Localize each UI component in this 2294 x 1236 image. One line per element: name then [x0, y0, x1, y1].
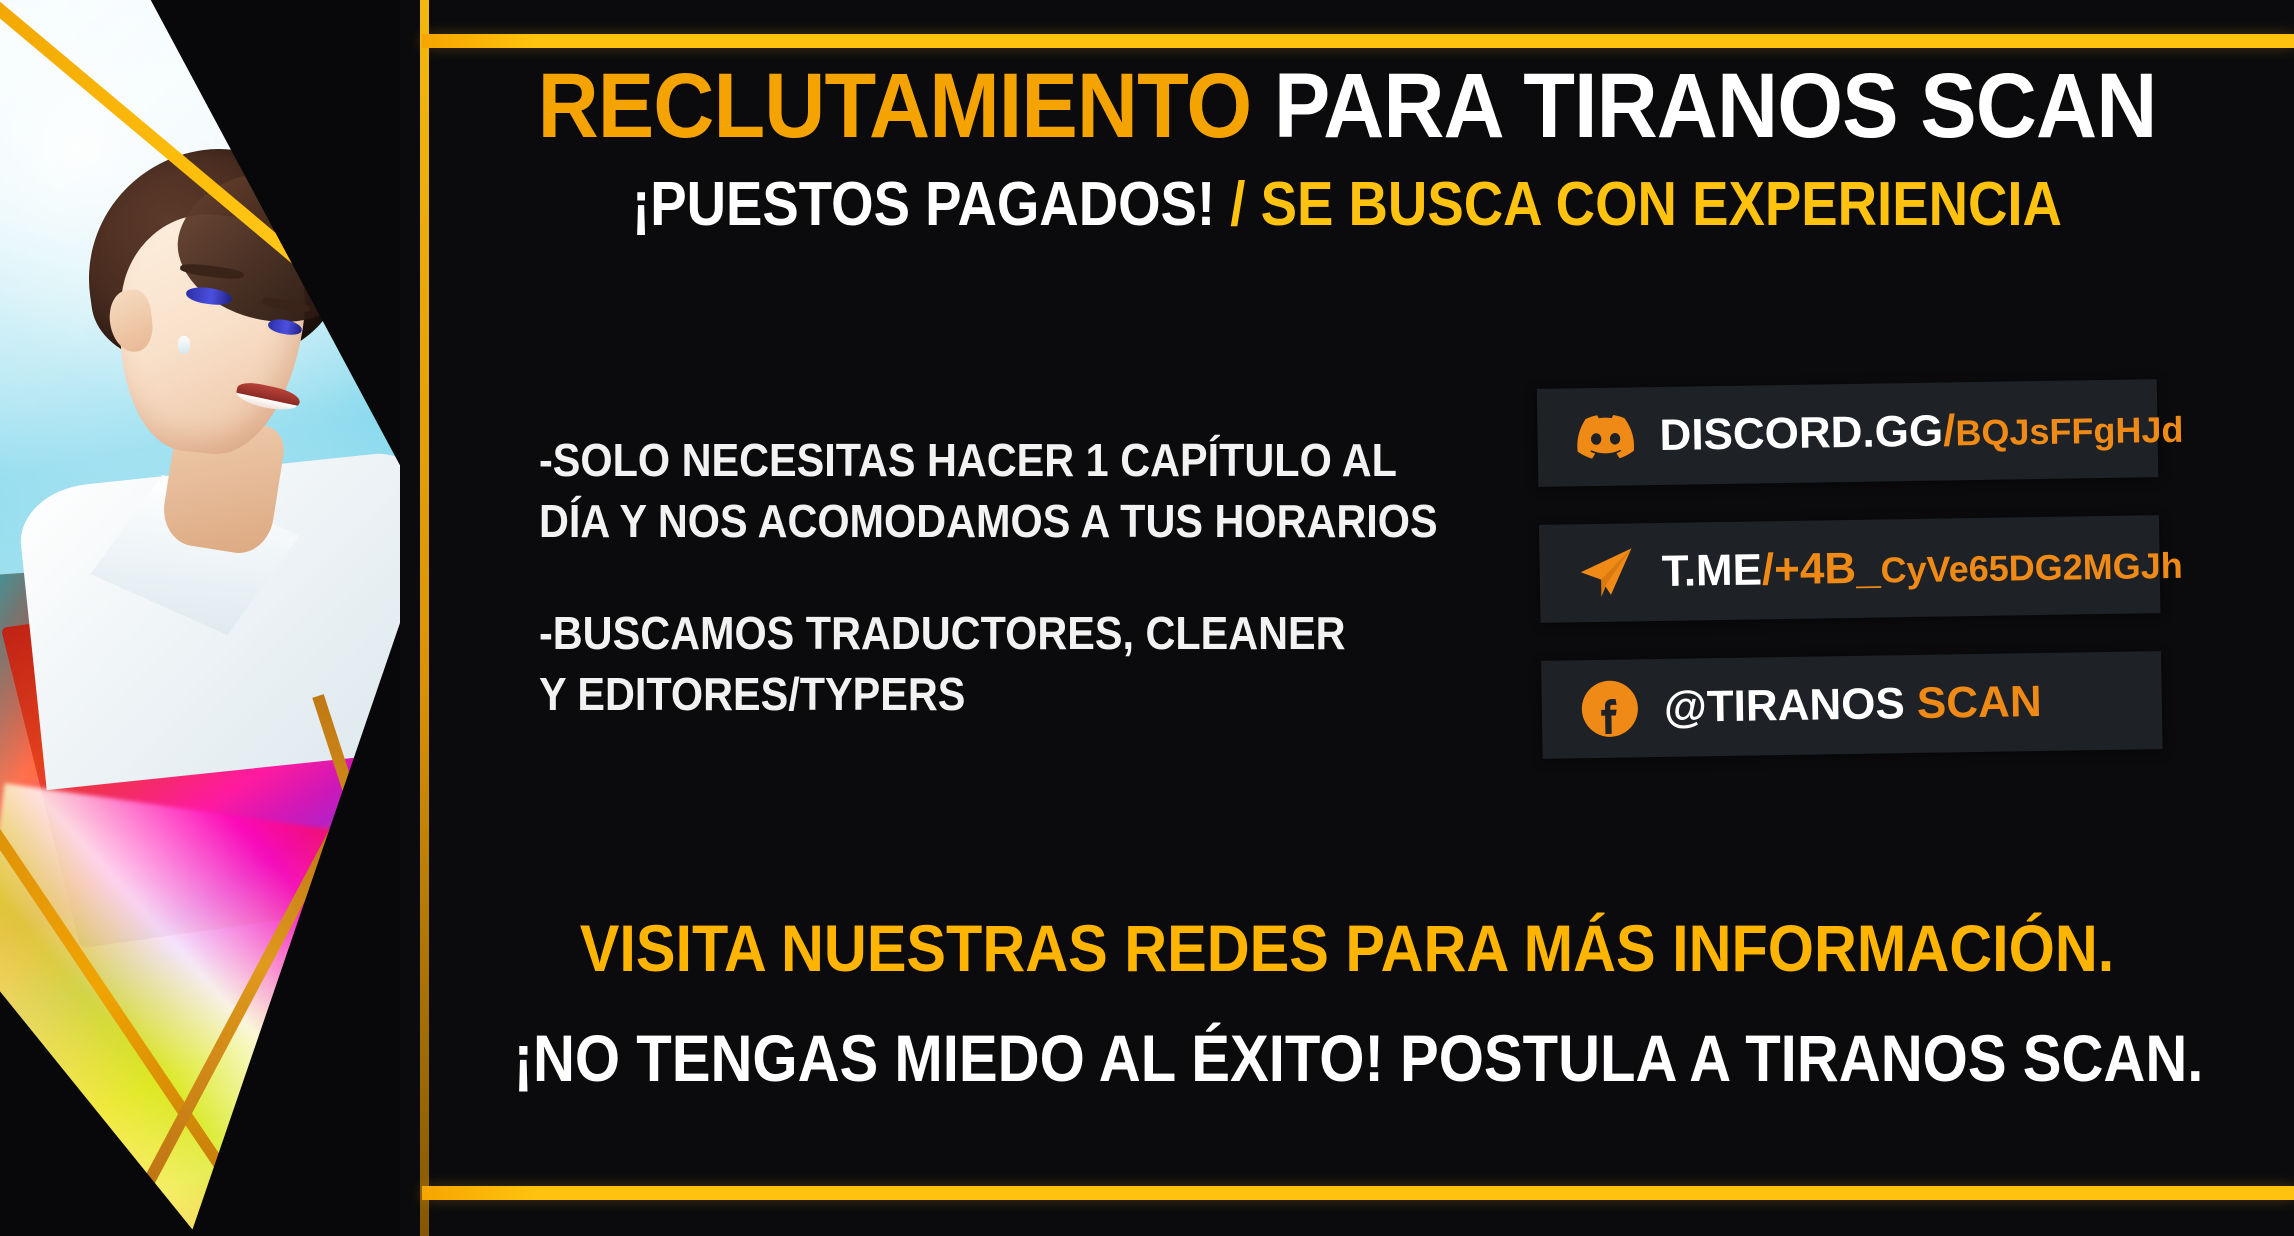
- facebook-link-text: @TIRANOS SCAN: [1664, 680, 2042, 730]
- facebook-handle-suffix: SCAN: [1904, 677, 2042, 728]
- telegram-link-card[interactable]: T.ME/+4B_CyVe65DG2MGJh: [1539, 515, 2160, 623]
- gold-top-bar: [422, 34, 2294, 48]
- discord-icon: [1575, 406, 1636, 467]
- requirement-line: -SOLO NECESITAS HACER 1 CAPÍTULO AL: [539, 430, 1241, 491]
- character-sweat-drop: [178, 336, 190, 354]
- facebook-handle: @TIRANOS: [1663, 679, 1905, 732]
- main-panel: RECLUTAMIENTO PARA TIRANOS SCAN ¡PUESTOS…: [400, 0, 2294, 1236]
- page-title: RECLUTAMIENTO PARA TIRANOS SCAN: [476, 60, 2218, 152]
- subtitle-white-part: ¡PUESTOS PAGADOS!: [632, 170, 1230, 239]
- recruitment-poster: RECLUTAMIENTO PARA TIRANOS SCAN ¡PUESTOS…: [0, 0, 2294, 1236]
- contact-links: DISCORD.GG/BQJsFFgHJd T.ME/+4B_CyVe65DG2…: [1537, 379, 2163, 797]
- artwork-panel: [0, 0, 430, 1236]
- telegram-link-text: T.ME/+4B_CyVe65DG2MGJh: [1661, 542, 2183, 594]
- discord-slash: /: [1943, 406, 1956, 455]
- requirement-item: -SOLO NECESITAS HACER 1 CAPÍTULO AL DÍA …: [539, 430, 1241, 551]
- requirements-list: -SOLO NECESITAS HACER 1 CAPÍTULO AL DÍA …: [539, 430, 1241, 725]
- facebook-icon: [1579, 678, 1640, 739]
- discord-domain: DISCORD.GG: [1659, 407, 1943, 460]
- discord-invite-code: BQJsFFgHJd: [1955, 409, 2184, 454]
- discord-link-text: DISCORD.GG/BQJsFFgHJd: [1659, 406, 2183, 458]
- title-rest: PARA TIRANOS SCAN: [1251, 55, 2156, 157]
- requirement-line: -BUSCAMOS TRADUCTORES, CLEANER: [539, 603, 1241, 664]
- cta-line-primary: VISITA NUESTRAS REDES PARA MÁS INFORMACI…: [495, 910, 2200, 986]
- telegram-invite-code: CyVe65DG2MGJh: [1880, 545, 2183, 591]
- cta-line-secondary: ¡NO TENGAS MIEDO AL ÉXITO! POSTULA A TIR…: [514, 1020, 2181, 1096]
- requirement-line: Y EDITORES/TYPERS: [539, 664, 1241, 725]
- telegram-icon: [1577, 542, 1638, 603]
- requirement-line: DÍA Y NOS ACOMODAMOS A TUS HORARIOS: [539, 491, 1241, 552]
- page-subtitle: ¡PUESTOS PAGADOS! / SE BUSCA CON EXPERIE…: [514, 174, 2181, 236]
- telegram-slash: /+4B_: [1762, 544, 1881, 595]
- gold-left-edge: [420, 0, 429, 1236]
- telegram-domain: T.ME: [1661, 545, 1762, 596]
- requirement-item: -BUSCAMOS TRADUCTORES, CLEANER Y EDITORE…: [539, 603, 1241, 724]
- facebook-link-card[interactable]: @TIRANOS SCAN: [1541, 651, 2162, 759]
- subtitle-gold-part: / SE BUSCA CON EXPERIENCIA: [1230, 170, 2062, 239]
- discord-link-card[interactable]: DISCORD.GG/BQJsFFgHJd: [1537, 379, 2158, 487]
- title-highlight: RECLUTAMIENTO: [538, 55, 1252, 157]
- gold-bottom-bar: [422, 1186, 2294, 1200]
